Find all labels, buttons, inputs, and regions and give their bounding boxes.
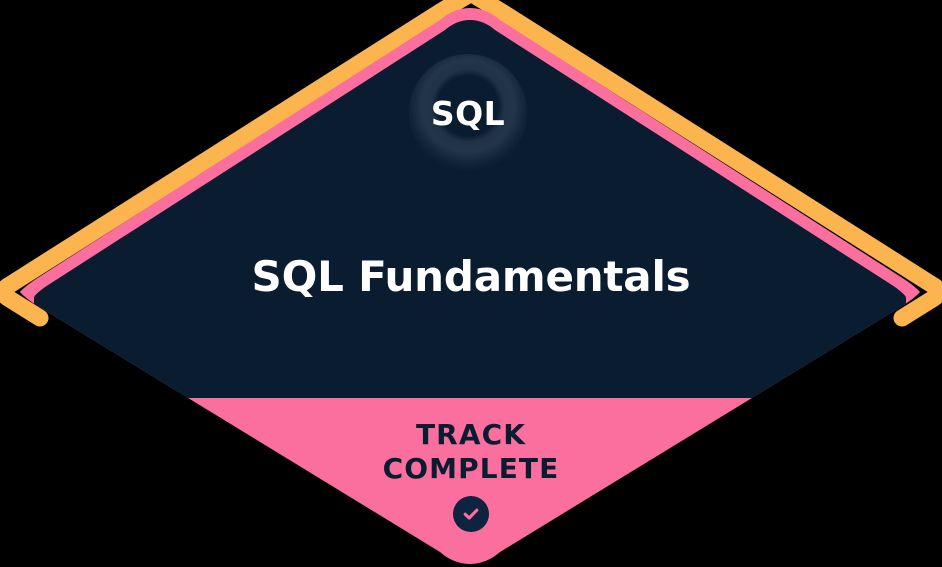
track-status-line-2: COMPLETE: [0, 452, 942, 486]
track-badge: SQL SQL Fundamentals TRACK COMPLETE: [0, 0, 942, 567]
sql-emblem-icon: SQL: [409, 54, 527, 172]
sql-emblem-label: SQL: [431, 94, 505, 133]
badge-content: SQL SQL Fundamentals TRACK COMPLETE: [0, 0, 942, 567]
track-status: TRACK COMPLETE: [0, 418, 942, 532]
checkmark-icon: [453, 496, 489, 532]
badge-title: SQL Fundamentals: [0, 252, 942, 301]
track-status-line-1: TRACK: [0, 418, 942, 452]
